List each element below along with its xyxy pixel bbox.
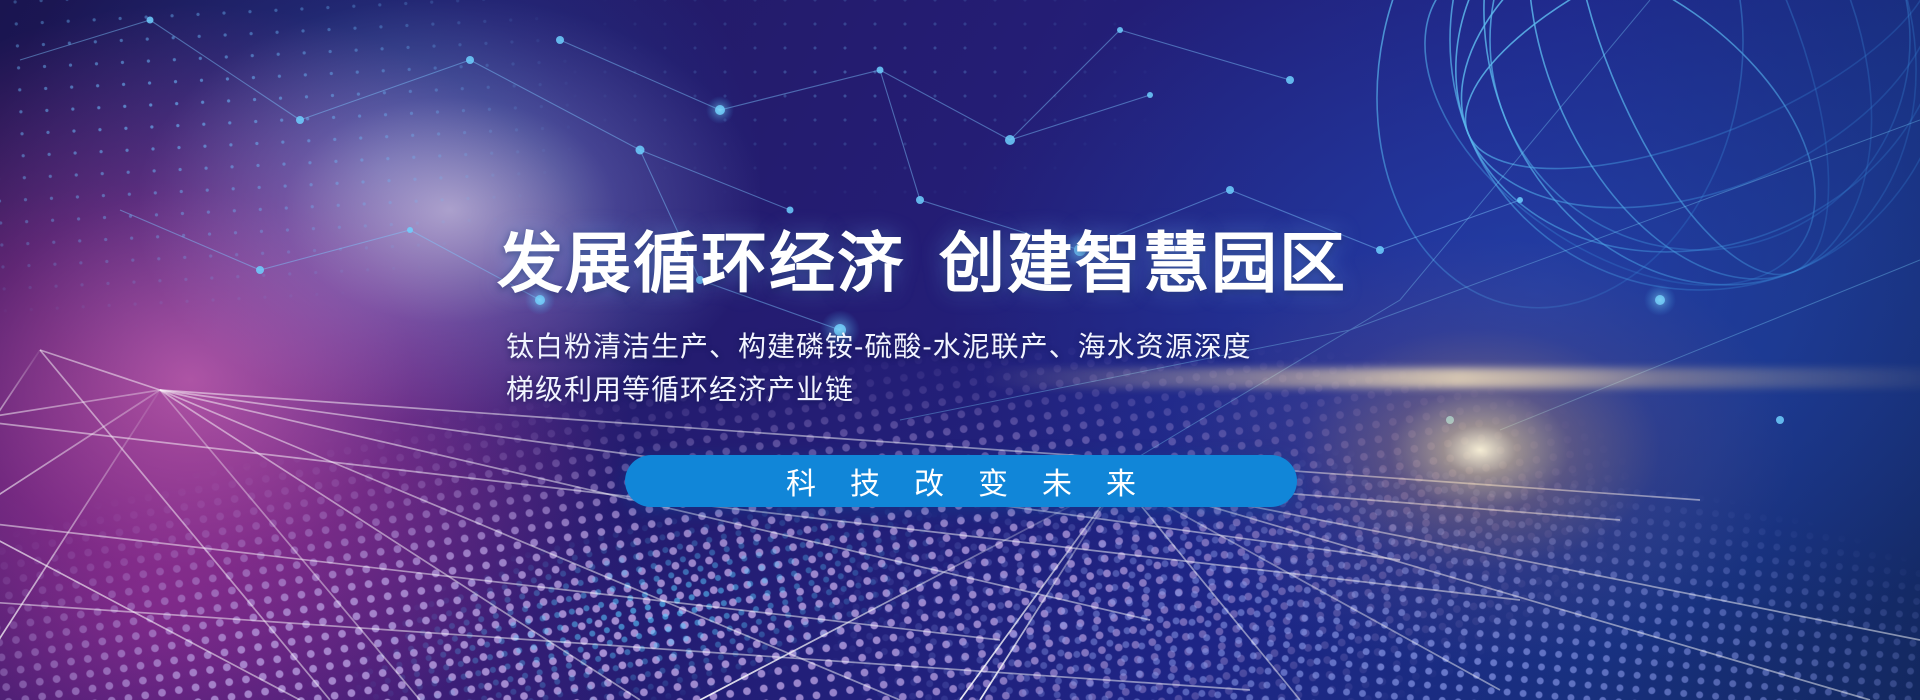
subtitle-line-2: 梯级利用等循环经济产业链: [506, 368, 1252, 411]
banner-headline: 发展循环经济创建智慧园区: [497, 230, 1347, 296]
banner-content: 发展循环经济创建智慧园区 钛白粉清洁生产、构建磷铵-硫酸-水泥联产、海水资源深度…: [0, 0, 1920, 700]
hero-banner: 发展循环经济创建智慧园区 钛白粉清洁生产、构建磷铵-硫酸-水泥联产、海水资源深度…: [0, 0, 1920, 700]
headline-part-2: 创建智慧园区: [939, 226, 1347, 300]
subtitle-line-1: 钛白粉清洁生产、构建磷铵-硫酸-水泥联产、海水资源深度: [506, 325, 1252, 368]
cta-button[interactable]: 科技改变未来: [625, 455, 1297, 507]
cta-button-label: 科技改变未来: [752, 459, 1170, 503]
headline-part-1: 发展循环经济: [497, 226, 905, 300]
banner-subtitle: 钛白粉清洁生产、构建磷铵-硫酸-水泥联产、海水资源深度 梯级利用等循环经济产业链: [506, 325, 1252, 412]
